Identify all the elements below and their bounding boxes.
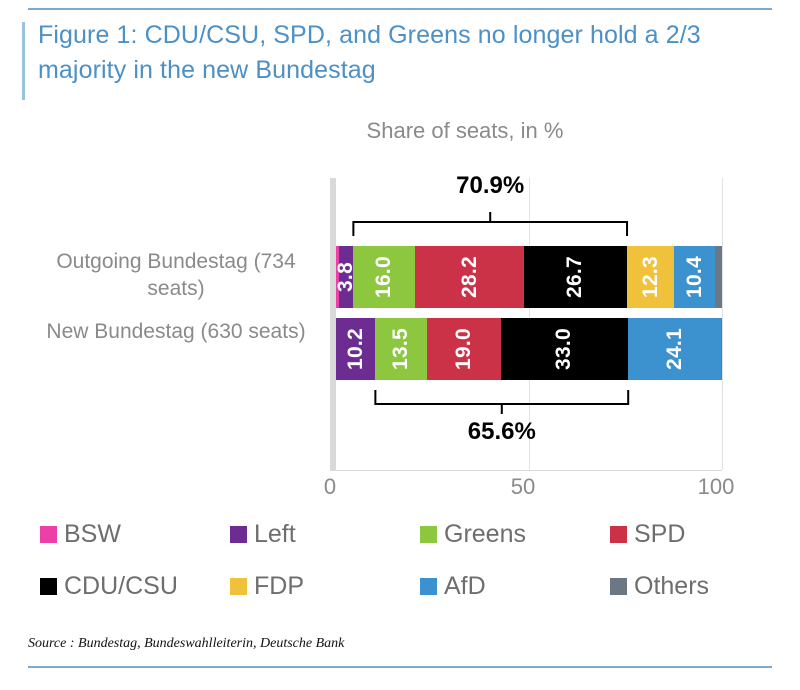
- plot-area: Outgoing Bundestag (734 seats) New Bunde…: [0, 170, 800, 500]
- x-tick-50: 50: [511, 474, 535, 500]
- bar-segment-cdu-csu: 33.0: [501, 318, 628, 380]
- bottom-divider-rule: [28, 666, 772, 668]
- bar-segment-value: 28.2: [458, 256, 482, 298]
- legend-item-greens[interactable]: Greens: [420, 520, 526, 549]
- bar-segment-fdp: 12.3: [627, 246, 674, 308]
- annotation-outgoing-share: 70.9%: [456, 172, 524, 200]
- annotation-new-share: 65.6%: [468, 418, 536, 446]
- bar-segment-left: 3.8: [339, 246, 354, 308]
- page-title: Figure 1: CDU/CSU, SPD, and Greens no lo…: [38, 18, 762, 87]
- title-block: Figure 1: CDU/CSU, SPD, and Greens no lo…: [22, 18, 762, 87]
- legend-item-cdu-csu[interactable]: CDU/CSU: [40, 572, 178, 601]
- x-tick-100: 100: [698, 474, 735, 500]
- legend-label: Left: [254, 520, 296, 549]
- legend-swatch-icon: [420, 526, 437, 543]
- bar-segment-left: 10.2: [336, 318, 375, 380]
- legend-swatch-icon: [230, 578, 247, 595]
- legend-label: FDP: [254, 572, 304, 601]
- legend-row: CDU/CSUFDPAfDOthers: [40, 560, 760, 612]
- legend-label: BSW: [64, 520, 121, 549]
- bracket-outgoing: [336, 212, 726, 246]
- bar-segment-value: 33.0: [552, 328, 576, 370]
- legend-label: AfD: [444, 572, 486, 601]
- legend-swatch-icon: [610, 578, 627, 595]
- bar-segment-value: 24.1: [663, 328, 687, 370]
- legend-label: SPD: [634, 520, 685, 549]
- title-accent-bar: [22, 22, 25, 100]
- legend-label: Others: [634, 572, 709, 601]
- source-note: Source : Bundestag, Bundeswahlleiterin, …: [28, 636, 344, 652]
- legend-swatch-icon: [40, 578, 57, 595]
- stacked-bar-outgoing: 3.816.028.226.712.310.4: [336, 246, 722, 308]
- legend-item-fdp[interactable]: FDP: [230, 572, 304, 601]
- chart-subtitle: Share of seats, in %: [0, 118, 800, 144]
- legend-row: BSWLeftGreensSPD: [40, 508, 760, 560]
- category-label-new: New Bundestag (630 seats): [30, 318, 322, 345]
- category-label-outgoing: Outgoing Bundestag (734 seats): [30, 248, 322, 303]
- bar-segment-value: 13.5: [389, 328, 413, 370]
- legend-item-spd[interactable]: SPD: [610, 520, 685, 549]
- bar-segment-greens: 16.0: [353, 246, 415, 308]
- legend-item-left[interactable]: Left: [230, 520, 296, 549]
- chart-legend: BSWLeftGreensSPDCDU/CSUFDPAfDOthers: [40, 508, 760, 612]
- legend-label: CDU/CSU: [64, 572, 178, 601]
- bar-segment-value: 19.0: [452, 328, 476, 370]
- legend-swatch-icon: [420, 578, 437, 595]
- legend-swatch-icon: [610, 526, 627, 543]
- bar-segment-value: 12.3: [639, 256, 663, 298]
- bar-segment-value: 16.0: [372, 256, 396, 298]
- legend-swatch-icon: [230, 526, 247, 543]
- bar-segment-afd: 10.4: [674, 246, 714, 308]
- bar-segment-others: [715, 246, 722, 308]
- x-axis-line: [330, 470, 722, 471]
- bar-segment-spd: 28.2: [415, 246, 524, 308]
- stacked-bar-new: 10.213.519.033.024.1: [336, 318, 722, 380]
- x-tick-0: 0: [324, 474, 336, 500]
- legend-label: Greens: [444, 520, 526, 549]
- top-divider-rule: [28, 8, 772, 10]
- bar-segment-value: 10.2: [344, 328, 368, 370]
- bar-segment-others: [721, 318, 722, 380]
- bar-segment-afd: 24.1: [628, 318, 721, 380]
- bar-segment-value: 26.7: [563, 256, 587, 298]
- legend-item-bsw[interactable]: BSW: [40, 520, 121, 549]
- legend-item-afd[interactable]: AfD: [420, 572, 486, 601]
- bracket-new: [336, 382, 726, 416]
- legend-swatch-icon: [40, 526, 57, 543]
- bar-segment-greens: 13.5: [375, 318, 427, 380]
- legend-item-others[interactable]: Others: [610, 572, 709, 601]
- bar-segment-cdu-csu: 26.7: [524, 246, 627, 308]
- bar-segment-spd: 19.0: [427, 318, 500, 380]
- bar-segment-value: 10.4: [683, 256, 707, 298]
